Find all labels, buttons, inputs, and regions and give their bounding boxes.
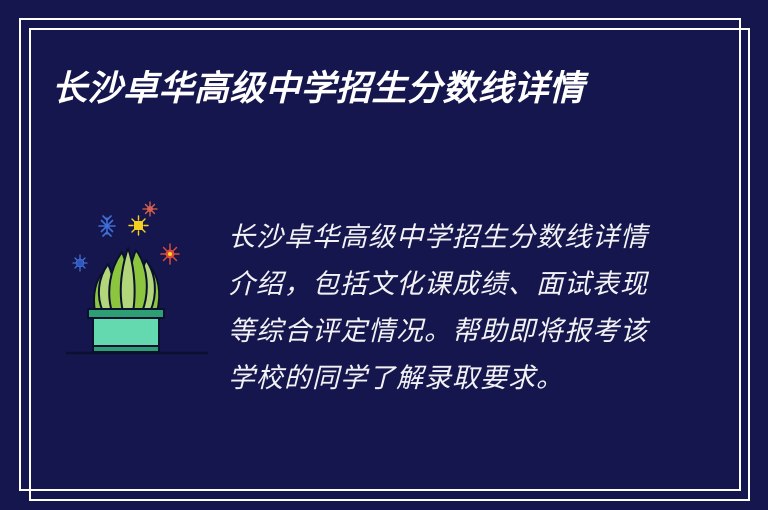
poster-page: 长沙卓华高级中学招生分数线详情 xyxy=(0,0,768,510)
page-title: 长沙卓华高级中学招生分数线详情 xyxy=(52,62,652,115)
blue-dot-flower xyxy=(73,255,87,271)
plant-pot xyxy=(88,309,164,352)
red-sparkle xyxy=(143,202,157,216)
plant-leaves xyxy=(94,248,159,312)
potted-plant-illustration xyxy=(62,196,212,366)
body-paragraph: 长沙卓华高级中学招生分数线详情介绍，包括文化课成绩、面试表现等综合评定情况。帮助… xyxy=(228,214,648,402)
yellow-sparkle xyxy=(129,216,148,235)
red-flower xyxy=(161,244,179,264)
blue-snowflake-sparkle xyxy=(99,216,115,236)
